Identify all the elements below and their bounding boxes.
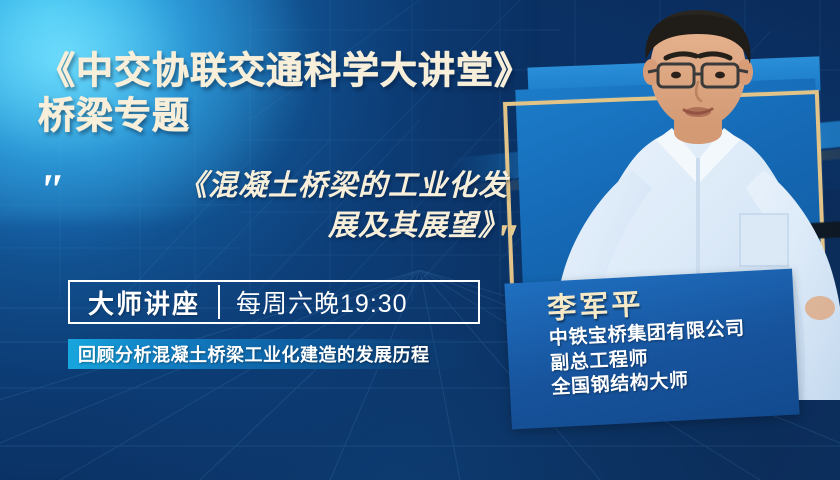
lecture-time: 每周六晚19:30 [220,282,424,322]
title-line-1: 《中交协联交通科学大讲堂》 [38,48,538,93]
topic-quote-line-1: 《混凝土桥梁的工业化发 [88,166,508,206]
title-line-2: 桥梁专题 [38,93,538,138]
topic-quote: " 《混凝土桥梁的工业化发 展及其展望》 " [36,166,556,276]
speaker-info: 李军平 中铁宝桥集团有限公司 副总工程师 全国钢结构大师 [520,272,827,437]
subtitle-bar: 回顾分析混凝土桥梁工业化建造的发展历程 [68,339,480,369]
lecture-label: 大师讲座 [70,282,218,322]
subtitle-text: 回顾分析混凝土桥梁工业化建造的发展历程 [78,341,430,367]
poster-canvas: 李军平 中铁宝桥集团有限公司 副总工程师 全国钢结构大师 《中交协联交通科学大讲… [0,0,840,480]
page-title: 《中交协联交通科学大讲堂》 桥梁专题 [38,48,538,138]
quote-open-icon: " [33,168,67,212]
topic-quote-line-2: 展及其展望》 [88,206,508,246]
topic-quote-text: 《混凝土桥梁的工业化发 展及其展望》 [88,166,508,246]
lecture-bar: 大师讲座 每周六晚19:30 [68,280,480,324]
